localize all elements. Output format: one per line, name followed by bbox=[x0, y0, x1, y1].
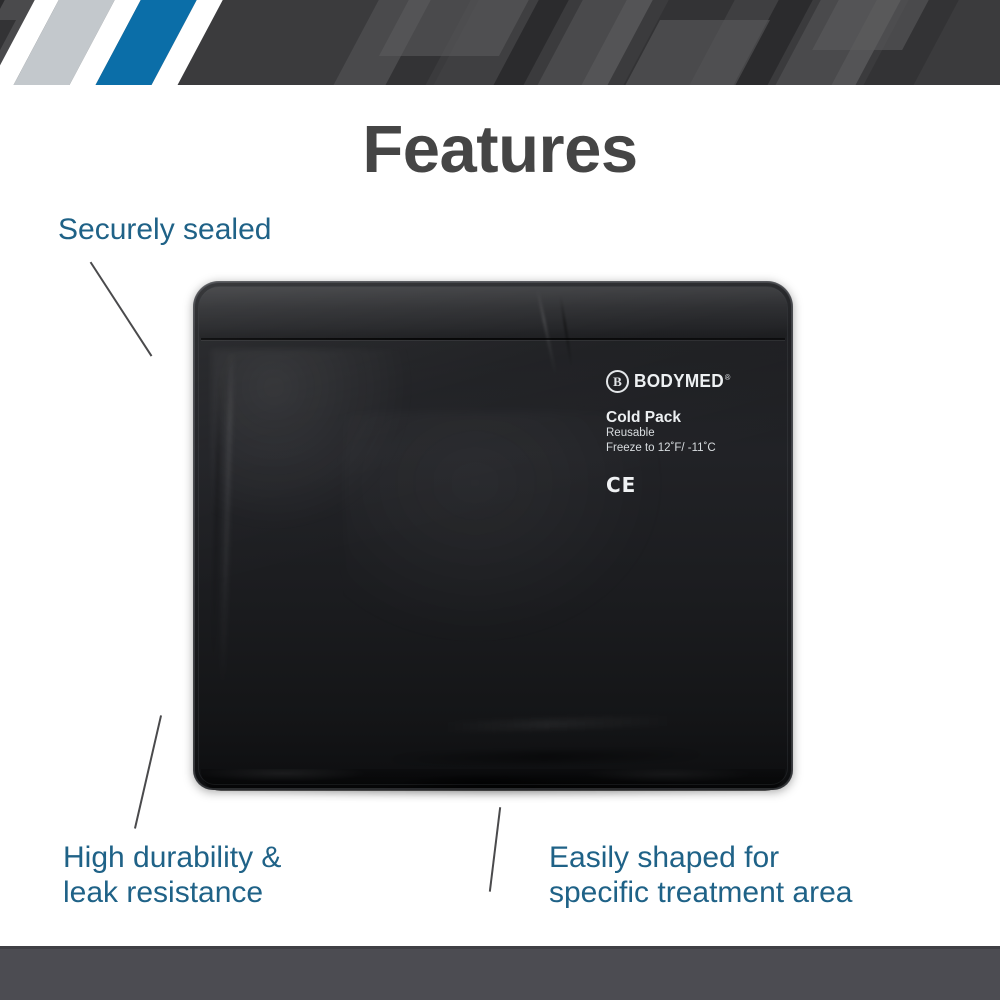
page-title: Features bbox=[0, 116, 1000, 183]
header-banner bbox=[0, 0, 1000, 85]
product-bottom-edge bbox=[201, 769, 785, 791]
product-image-cold-pack: B BODYMED® Cold Pack Reusable Freeze to … bbox=[193, 281, 793, 802]
brand-logo: B BODYMED® bbox=[606, 369, 778, 393]
bodymed-circle-b-icon: B bbox=[606, 370, 629, 393]
footer-bar bbox=[0, 946, 1000, 1000]
leader-line-high-durability bbox=[134, 715, 162, 829]
product-top-seal-band bbox=[199, 287, 787, 339]
leader-line-securely-sealed bbox=[90, 261, 153, 356]
product-body bbox=[193, 281, 793, 790]
leader-line-easily-shaped bbox=[489, 807, 502, 892]
label-spec-reusable: Reusable bbox=[606, 426, 778, 441]
brand-name-label: BODYMED bbox=[634, 370, 724, 391]
label-spec-freeze-temperature: Freeze to 12˚F/ -11˚C bbox=[606, 441, 778, 456]
product-seal-seam bbox=[201, 338, 785, 340]
registered-trademark-icon: ® bbox=[725, 373, 731, 382]
callout-easily-shaped: Easily shaped for specific treatment are… bbox=[549, 840, 852, 910]
label-product-name: Cold Pack bbox=[606, 409, 778, 426]
callout-securely-sealed: Securely sealed bbox=[58, 212, 271, 247]
callout-high-durability: High durability & leak resistance bbox=[63, 840, 281, 910]
ce-mark-icon: CE bbox=[606, 475, 778, 495]
brand-name-text: BODYMED® bbox=[634, 372, 731, 391]
product-label: B BODYMED® Cold Pack Reusable Freeze to … bbox=[606, 369, 778, 495]
